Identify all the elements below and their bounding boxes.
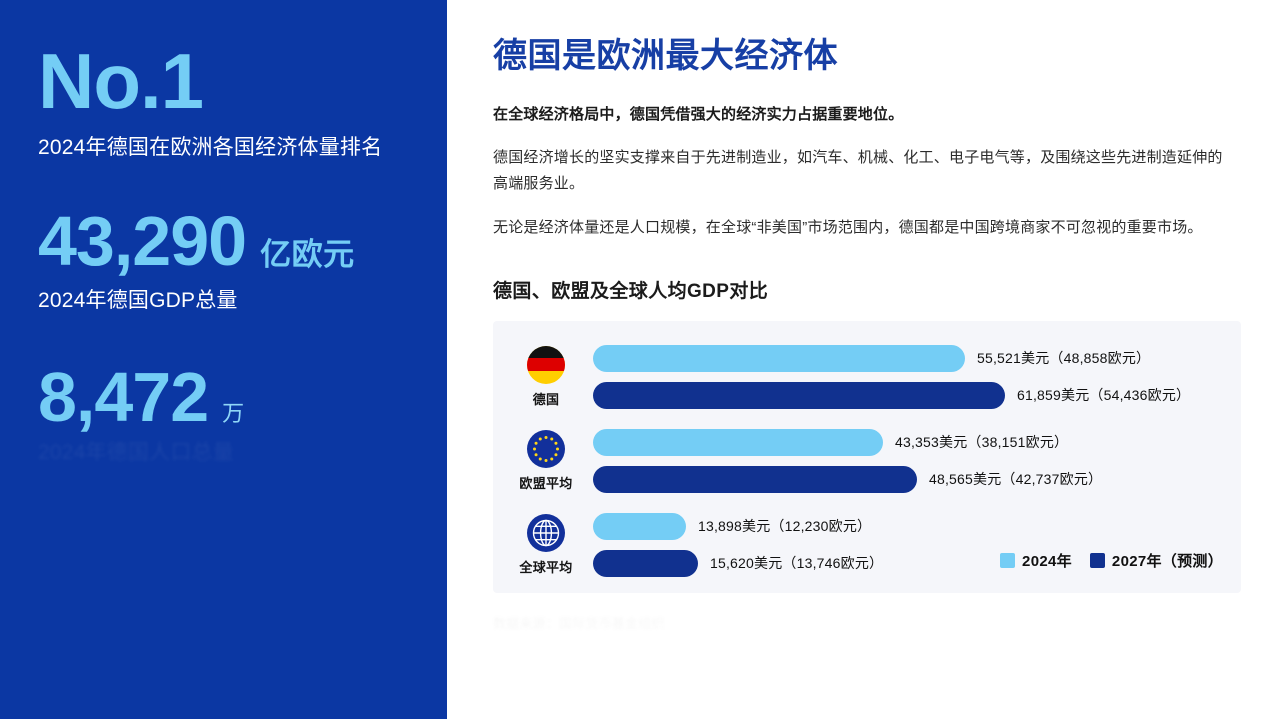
population-value: 8,472	[38, 362, 208, 432]
page-title: 德国是欧洲最大经济体	[493, 36, 1241, 77]
germany-flag-icon	[527, 346, 565, 384]
body-paragraph-2: 无论是经济体量还是人口规模，在全球“非美国”市场范围内，德国都是中国跨境商家不可…	[493, 215, 1235, 241]
bar-global-2027	[593, 550, 698, 577]
body-paragraph-1: 德国经济增长的坚实支撑来自于先进制造业，如汽车、机械、化工、电子电气等，及围绕这…	[493, 145, 1235, 198]
bars-global: 13,898美元（12,230欧元） 15,620美元（13,746欧元）	[577, 503, 1241, 587]
globe-icon	[527, 514, 565, 552]
bar-value-eu-2024: 43,353美元（38,151欧元）	[895, 432, 1068, 452]
bars-eu: 43,353美元（38,151欧元） 48,565美元（42,737欧元）	[577, 419, 1241, 503]
gdp-unit: 亿欧元	[260, 229, 355, 274]
bar-value-germany-2024: 55,521美元（48,858欧元）	[977, 348, 1150, 368]
gdp-value: 43,290	[38, 206, 246, 276]
gdp-comparison-chart: 德国 55,521美元（48,858欧元） 61,859美元（54,436欧元）	[493, 321, 1241, 593]
population-stat-block: 8,472 万 2024年德国人口总量	[38, 362, 409, 466]
legend-label-2024: 2024年	[1022, 550, 1072, 571]
bar-eu-2024	[593, 429, 883, 456]
bar-germany-2027	[593, 382, 1005, 409]
rank-number: No.1	[38, 42, 409, 120]
bar-line-2024: 55,521美元（48,858欧元）	[593, 345, 1241, 372]
chart-title: 德国、欧盟及全球人均GDP对比	[493, 276, 1241, 303]
lead-paragraph: 在全球经济格局中，德国凭借强大的经济实力占据重要地位。	[493, 103, 1241, 127]
legend-label-2027: 2027年（预测）	[1112, 550, 1223, 571]
bar-line-2024: 43,353美元（38,151欧元）	[593, 429, 1241, 456]
bar-value-global-2024: 13,898美元（12,230欧元）	[698, 516, 871, 536]
category-label: 欧盟平均	[519, 473, 572, 492]
bar-global-2024	[593, 513, 686, 540]
chart-row-eu: 欧盟平均 43,353美元（38,151欧元） 48,565美元（42,737欧…	[493, 419, 1241, 503]
row-label-eu: 欧盟平均	[515, 430, 577, 492]
chart-row-germany: 德国 55,521美元（48,858欧元） 61,859美元（54,436欧元）	[493, 335, 1241, 419]
content-panel: 德国是欧洲最大经济体 在全球经济格局中，德国凭借强大的经济实力占据重要地位。 德…	[447, 0, 1278, 719]
bar-line-2024: 13,898美元（12,230欧元）	[593, 513, 1241, 540]
bar-line-2027: 48,565美元（42,737欧元）	[593, 466, 1241, 493]
bar-germany-2024	[593, 345, 965, 372]
bars-germany: 55,521美元（48,858欧元） 61,859美元（54,436欧元）	[577, 335, 1241, 419]
population-unit: 万	[222, 396, 245, 428]
rank-caption: 2024年德国在欧洲各国经济体量排名	[38, 134, 409, 162]
gdp-caption: 2024年德国GDP总量	[38, 284, 409, 314]
bar-line-2027: 61,859美元（54,436欧元）	[593, 382, 1241, 409]
eu-flag-icon	[527, 430, 565, 468]
gdp-stat-block: 43,290 亿欧元 2024年德国GDP总量	[38, 206, 409, 314]
chart-row-global: 全球平均 13,898美元（12,230欧元） 15,620美元（13,746欧…	[493, 503, 1241, 587]
category-label: 德国	[533, 389, 560, 408]
legend-item-2024: 2024年	[1000, 550, 1072, 571]
left-stats-panel: No.1 2024年德国在欧洲各国经济体量排名 43,290 亿欧元 2024年…	[0, 0, 447, 719]
gdp-stat-row: 43,290 亿欧元	[38, 206, 409, 276]
legend-item-2027: 2027年（预测）	[1090, 550, 1223, 571]
population-caption: 2024年德国人口总量	[38, 436, 409, 466]
bar-value-global-2027: 15,620美元（13,746欧元）	[710, 553, 883, 573]
legend-swatch-2024	[1000, 553, 1015, 568]
row-label-global: 全球平均	[515, 514, 577, 576]
slide-root: No.1 2024年德国在欧洲各国经济体量排名 43,290 亿欧元 2024年…	[0, 0, 1278, 719]
chart-footnote: 数据来源：国际货币基金组织	[493, 613, 1241, 632]
bar-value-eu-2027: 48,565美元（42,737欧元）	[929, 469, 1102, 489]
category-label: 全球平均	[519, 557, 572, 576]
bar-eu-2027	[593, 466, 917, 493]
row-label-germany: 德国	[515, 346, 577, 408]
legend-swatch-2027	[1090, 553, 1105, 568]
population-stat-row: 8,472 万	[38, 362, 409, 432]
chart-legend: 2024年 2027年（预测）	[1000, 550, 1223, 571]
bar-value-germany-2027: 61,859美元（54,436欧元）	[1017, 385, 1190, 405]
